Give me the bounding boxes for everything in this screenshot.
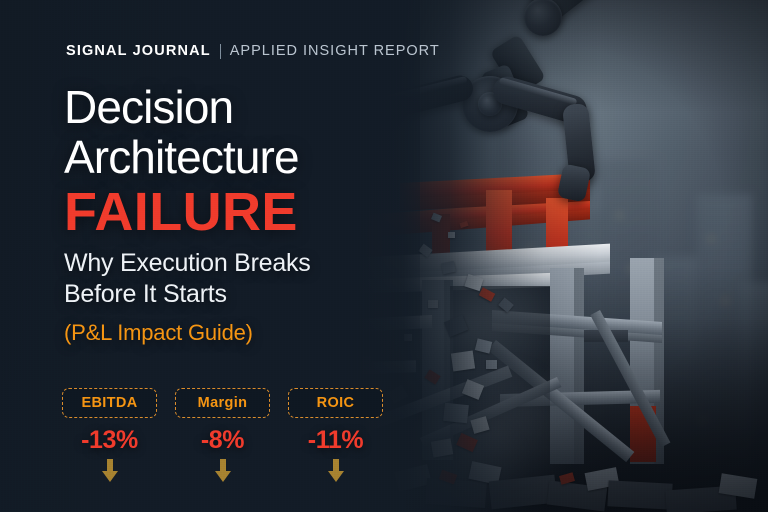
- report-type-label: APPLIED INSIGHT REPORT: [230, 43, 440, 59]
- tagline: (P&L Impact Guide): [64, 320, 253, 346]
- down-arrow-icon: [325, 459, 347, 483]
- brand-name: SIGNAL JOURNAL: [66, 43, 211, 59]
- metric-ebitda: EBITDA -13%: [62, 388, 157, 483]
- subheadline-line-1: Why Execution Breaks: [64, 248, 311, 279]
- brand-divider: [220, 44, 221, 59]
- subheadline-line-2: Before It Starts: [64, 279, 311, 310]
- down-arrow-icon: [99, 459, 121, 483]
- metric-badge-margin: Margin: [175, 388, 270, 418]
- headline-emphasis: FAILURE: [64, 184, 299, 240]
- subheadline: Why Execution Breaks Before It Starts: [64, 248, 311, 310]
- metric-label: ROIC: [317, 395, 355, 411]
- metric-badge-ebitda: EBITDA: [62, 388, 157, 418]
- metric-badge-roic: ROIC: [288, 388, 383, 418]
- metric-label: EBITDA: [81, 395, 137, 411]
- metric-value: -8%: [201, 426, 244, 455]
- metric-roic: ROIC -11%: [288, 388, 383, 483]
- metric-value: -13%: [81, 426, 138, 455]
- headline-line-1: Decision: [64, 82, 299, 132]
- metric-label: Margin: [198, 395, 248, 411]
- breadcrumb: SIGNAL JOURNAL APPLIED INSIGHT REPORT: [66, 43, 440, 59]
- metric-value: -11%: [308, 426, 363, 455]
- page-title: Decision Architecture FAILURE: [64, 82, 299, 240]
- metric-margin: Margin -8%: [175, 388, 270, 483]
- down-arrow-icon: [212, 459, 234, 483]
- headline-line-2: Architecture: [64, 132, 299, 182]
- poster-canvas: SIGNAL JOURNAL APPLIED INSIGHT REPORT De…: [0, 0, 768, 512]
- metrics-row: EBITDA -13% Margin -8% ROIC -11%: [62, 388, 383, 483]
